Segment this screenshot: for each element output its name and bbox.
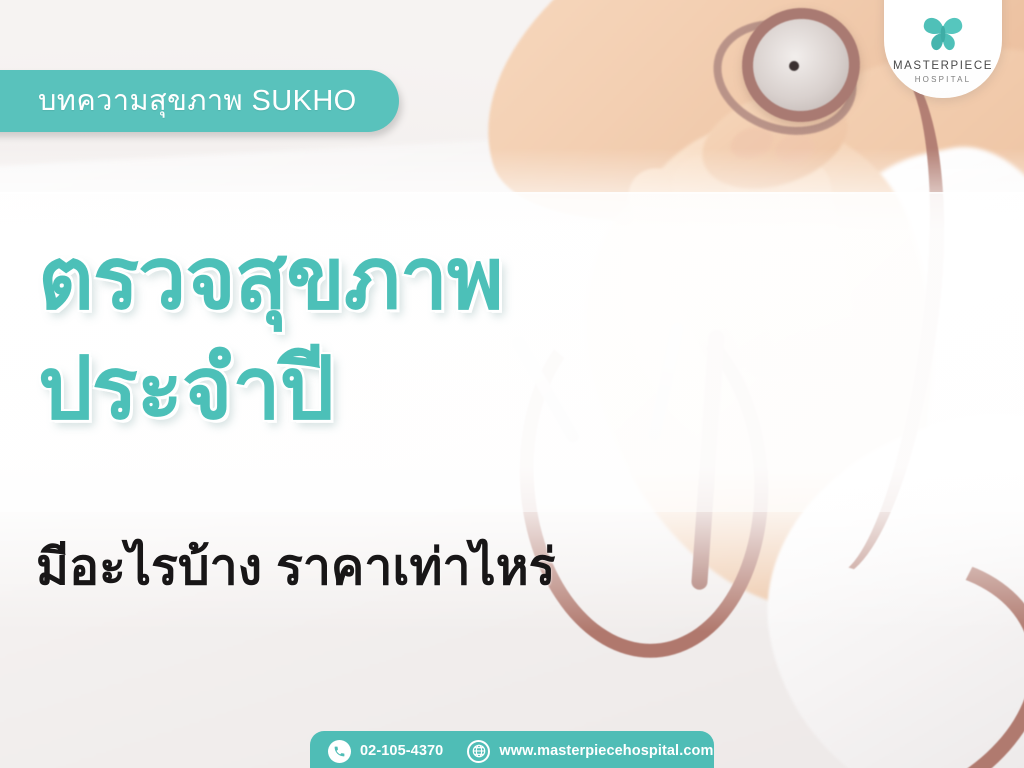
- overlay-wash-top: [0, 148, 1024, 194]
- website-url: www.masterpiecehospital.com: [499, 743, 713, 759]
- globe-icon: [467, 740, 490, 763]
- article-category-badge: บทความสุขภาพ SUKHO: [0, 70, 399, 132]
- brand-name: MASTERPIECE: [893, 61, 993, 73]
- phone-glyph: [333, 745, 346, 758]
- globe-glyph: [471, 743, 487, 759]
- phone-number: 02-105-4370: [360, 743, 443, 759]
- brand-subname: HOSPITAL: [915, 76, 972, 84]
- headline-line-1: ตรวจสุขภาพ: [38, 224, 758, 334]
- contact-bar: 02-105-4370 www.masterpiecehospital.com: [310, 731, 714, 768]
- page-subtitle: มีอะไรบ้าง ราคาเท่าไหร่: [36, 540, 556, 595]
- health-article-poster: บทความสุขภาพ SUKHO ตรวจสุขภาพ ประจำปี มี…: [0, 0, 1024, 768]
- phone-icon: [328, 740, 351, 763]
- page-title: ตรวจสุขภาพ ประจำปี: [38, 224, 758, 444]
- butterfly-icon: [920, 14, 966, 54]
- website-contact[interactable]: www.masterpiecehospital.com: [467, 740, 713, 763]
- headline-line-2: ประจำปี: [38, 334, 758, 444]
- phone-contact[interactable]: 02-105-4370: [328, 740, 443, 763]
- article-category-label: บทความสุขภาพ SUKHO: [38, 87, 357, 116]
